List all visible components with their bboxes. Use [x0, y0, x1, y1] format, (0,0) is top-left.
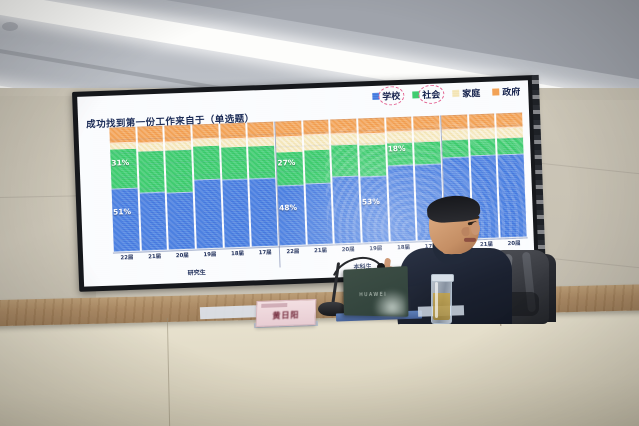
legend-item-社会: 社会 — [412, 88, 440, 102]
legend-label: 家庭 — [462, 86, 480, 100]
bar-segment-社会 — [470, 138, 496, 155]
x-axis-tick: 20届 — [168, 251, 196, 266]
bar-segment-政府 — [165, 125, 191, 143]
tumbler-highlight — [435, 282, 438, 318]
legend-item-家庭: 家庭 — [452, 86, 480, 100]
legend-label: 学校 — [382, 89, 400, 103]
bar-segment-学校 — [222, 178, 250, 247]
bar-segment-政府 — [137, 126, 163, 144]
bar-segment-社会 — [248, 145, 275, 178]
x-axis-group-label: 研究生 — [114, 265, 280, 283]
bar-segment-政府 — [358, 118, 384, 135]
bar-segment-学校 — [194, 178, 222, 248]
bar-segment-家庭 — [303, 134, 329, 150]
bar-segment-政府 — [275, 121, 301, 138]
laptop: HUAWEI — [343, 266, 408, 317]
bar-segment-家庭 — [221, 139, 247, 147]
x-axis-tick: 21届 — [307, 245, 335, 260]
bar-segment-政府 — [220, 123, 246, 140]
data-label: 27% — [277, 158, 295, 168]
x-axis-tick: 21届 — [141, 252, 169, 267]
bar-segment-社会 — [276, 152, 303, 186]
legend-item-学校: 学校 — [372, 89, 400, 103]
presenter-mouth — [464, 238, 476, 242]
bar-segment-社会 — [332, 145, 359, 177]
data-label: 31% — [111, 158, 129, 168]
bar-segment-社会 — [442, 139, 468, 157]
bar-segment-社会 — [110, 149, 137, 188]
placard-logo — [261, 303, 287, 308]
bar-segment-社会 — [304, 149, 331, 183]
name-placard: 黄日阳 — [256, 299, 317, 327]
legend-swatch-icon — [452, 90, 459, 97]
ceiling-vent — [2, 22, 18, 31]
bar-segment-学校 — [333, 176, 361, 244]
presenter — [398, 200, 518, 320]
x-axis-tick: 18届 — [224, 249, 252, 264]
x-axis-tick: 19届 — [196, 250, 224, 265]
bar-segment-社会 — [138, 151, 165, 193]
bar-segment-社会 — [359, 145, 386, 177]
bar-segment-政府 — [248, 122, 274, 139]
bar-segment-家庭 — [110, 143, 136, 150]
legend-label: 社会 — [422, 88, 440, 102]
conference-room-scene: 成功找到第一份工作来自于（单选题） 学校社会家庭政府 100%90%80%70%… — [0, 0, 639, 426]
data-label: 51% — [113, 207, 131, 217]
x-axis-tick: 22届 — [113, 253, 141, 268]
placard-name-text: 黄日阳 — [257, 309, 315, 322]
bar-segment-社会 — [497, 137, 523, 154]
bar-segment-家庭 — [248, 138, 274, 146]
x-axis-tick: 17届 — [251, 248, 279, 263]
bar-segment-社会 — [221, 146, 248, 179]
legend-item-政府: 政府 — [492, 85, 520, 99]
presenter-ear — [471, 222, 480, 235]
legend-label: 政府 — [502, 85, 520, 99]
chart-legend: 学校社会家庭政府 — [372, 85, 520, 103]
tumbler-lid — [431, 274, 454, 282]
bar-segment-家庭 — [193, 139, 219, 147]
data-label: 18% — [387, 144, 405, 154]
x-axis-tick: 22届 — [279, 247, 307, 262]
bar-segment-学校 — [305, 183, 333, 245]
bar-segment-学校 — [250, 177, 278, 246]
bar-segment-政府 — [109, 127, 135, 144]
tea-tumbler — [431, 276, 452, 324]
bar-segment-学校 — [360, 176, 388, 243]
bar-segment-学校 — [112, 187, 140, 251]
data-label: 48% — [279, 203, 297, 213]
legend-swatch-icon — [492, 88, 499, 95]
presenter-nose — [461, 227, 470, 237]
laptop-screen-glare — [372, 288, 406, 315]
data-label: 53% — [362, 197, 380, 207]
